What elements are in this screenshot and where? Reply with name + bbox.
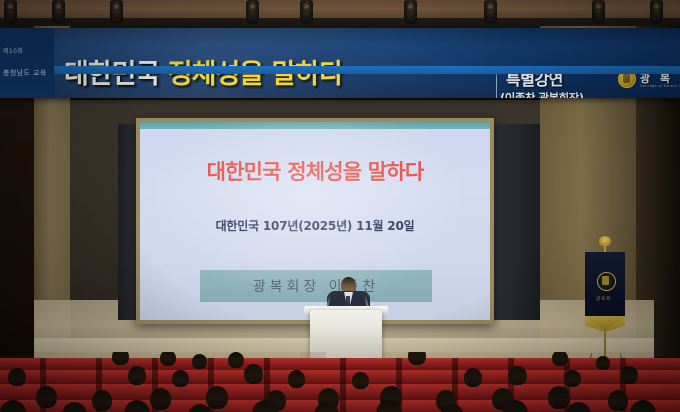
stage-light-icon [484, 0, 497, 24]
side-banner-line2: 충청남도 교육 [3, 68, 47, 78]
banner-lecturer-name: (이종찬 광복회장) [500, 90, 584, 98]
audience-head [128, 366, 146, 385]
stage-light-icon [110, 0, 123, 24]
side-banner: 제10회 충청남도 교육 [0, 28, 54, 98]
banner-title-gold: 정체성을 말하다 [168, 59, 343, 90]
banner-title-white: 대한민국 [64, 59, 159, 90]
audience-head [160, 352, 176, 366]
audience-area [0, 352, 680, 412]
stage-light-lens [303, 3, 310, 10]
audience-head [172, 370, 189, 387]
seat-divider [340, 358, 346, 412]
stage-light-icon [246, 0, 259, 24]
slide-top-band [140, 122, 490, 129]
audience-head [192, 354, 207, 369]
screen-right-panel [490, 124, 540, 320]
stage-light-lens [249, 3, 256, 10]
audience-head [464, 368, 482, 387]
audience-head [8, 368, 26, 386]
audience-head [548, 386, 570, 409]
stage-light-lens [55, 3, 62, 10]
audience-head [36, 386, 57, 408]
slide-speaker-name: 광복회장 이종찬 [200, 276, 432, 296]
slide-title: 대한민국 정체성을 말하다 [140, 156, 490, 186]
flag-label: 광복회 [596, 296, 611, 302]
stage-light-icon [592, 0, 605, 24]
audience-head [244, 364, 263, 384]
audience-head [206, 386, 228, 409]
audience-head [620, 366, 638, 384]
projection-screen: 대한민국 정체성을 말하다 대한민국 107년(2025년) 11월 20일 광… [140, 122, 490, 320]
gwangbokhoe-sublabel: Heritage of Korean Independence Patriots [640, 84, 680, 88]
stage-light-lens [595, 3, 602, 10]
side-banner-line1: 제10회 [3, 46, 23, 55]
audience-head [564, 370, 581, 387]
stage-light-icon [52, 0, 65, 24]
banner-bottom-strip [0, 66, 680, 74]
audience-head [608, 390, 628, 411]
stage-light-lens [407, 3, 414, 10]
audience-head [408, 352, 426, 365]
stage-light-icon [300, 0, 313, 24]
audience-head [92, 390, 112, 411]
stage-light-lens [653, 3, 660, 10]
stage-light-icon [650, 0, 663, 24]
audience-head [352, 372, 369, 389]
audience-head [552, 352, 568, 366]
slide-date: 대한민국 107년(2025년) 11월 20일 [140, 217, 490, 234]
audience-head [596, 356, 610, 370]
event-banner: 대한민국 정체성을 말하다 일시 | 대한민국 107년(2025) 11월 2… [0, 28, 680, 98]
audience-head [288, 370, 305, 388]
audience-head [150, 388, 171, 410]
stage-light-lens [487, 3, 494, 10]
audience-head [112, 352, 129, 365]
stage-light-icon [404, 0, 417, 24]
audience-head [228, 352, 244, 368]
stage-light-lens [113, 3, 120, 10]
stage-light-icon [4, 0, 17, 24]
stage-light-lens [7, 3, 14, 10]
audience-head [508, 366, 527, 385]
lecture-hall-photo: 대한민국 정체성을 말하다 일시 | 대한민국 107년(2025) 11월 2… [0, 0, 680, 412]
flag-emblem-icon [597, 272, 616, 291]
